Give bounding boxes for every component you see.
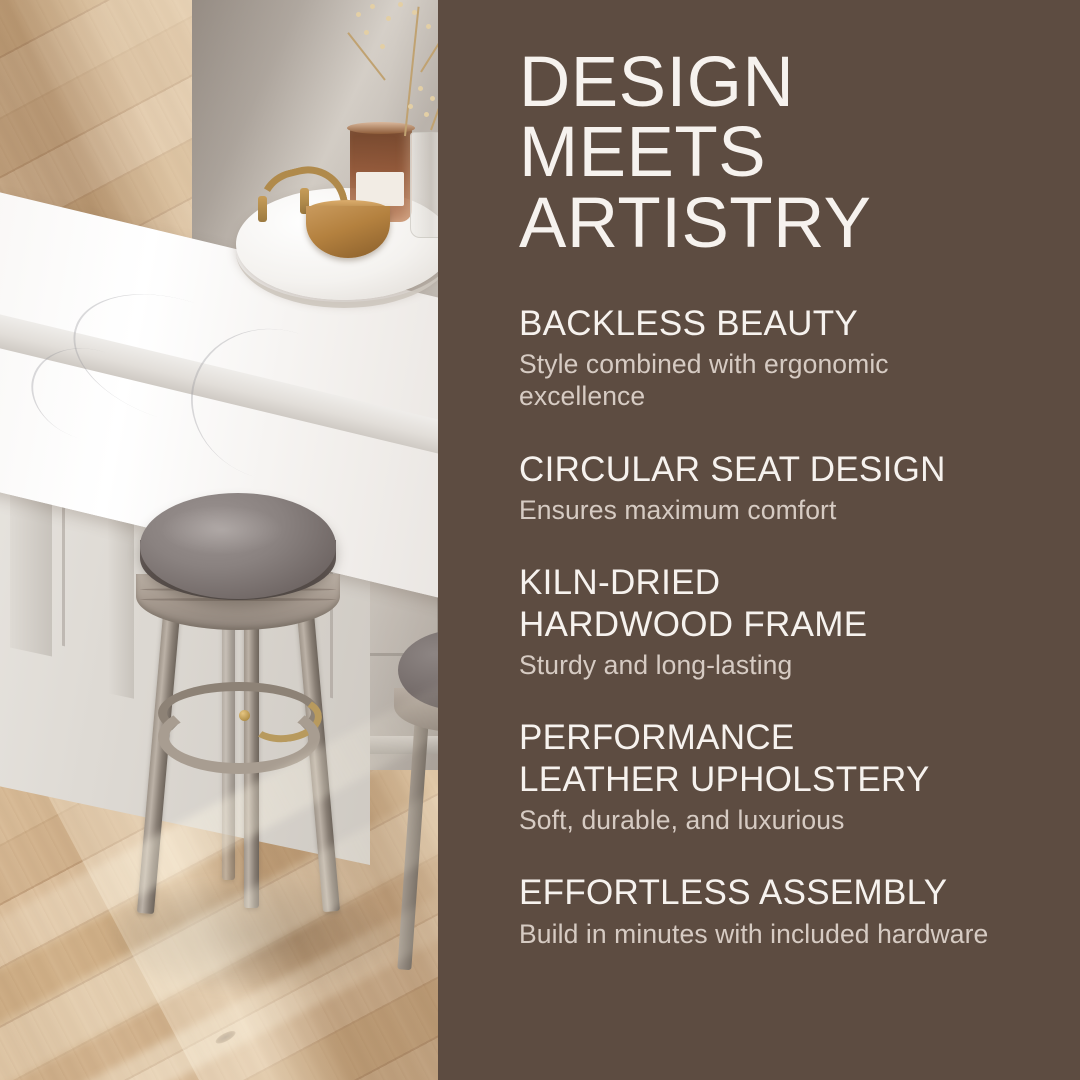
- feature-item-backless-beauty: BACKLESS BEAUTY Style combined with ergo…: [519, 303, 1040, 413]
- feature-item-effortless-assembly: EFFORTLESS ASSEMBLY Build in minutes wit…: [519, 872, 1040, 950]
- dried-floret: [412, 10, 417, 15]
- feature-title: PERFORMANCE LEATHER UPHOLSTERY: [519, 717, 1040, 800]
- dried-floret: [386, 16, 391, 21]
- feature-description: Style combined with ergonomic excellence: [519, 348, 989, 413]
- seat-highlight: [162, 506, 282, 554]
- dried-floret: [356, 12, 361, 17]
- feature-description: Sturdy and long-lasting: [519, 649, 989, 681]
- dried-floret: [380, 44, 385, 49]
- feature-title: CIRCULAR SEAT DESIGN: [519, 449, 1040, 490]
- dried-floret: [408, 104, 413, 109]
- features-panel: DESIGN MEETS ARTISTRY BACKLESS BEAUTY St…: [438, 0, 1080, 1080]
- feature-description: Build in minutes with included hardware: [519, 918, 989, 950]
- page-title: DESIGN MEETS ARTISTRY: [519, 42, 1040, 259]
- feature-description: Ensures maximum comfort: [519, 494, 989, 526]
- feature-title: KILN-DRIED HARDWOOD FRAME: [519, 562, 1040, 645]
- feature-title: BACKLESS BEAUTY: [519, 303, 1040, 344]
- dried-floret: [418, 86, 423, 91]
- dried-floret: [424, 112, 429, 117]
- feature-title: EFFORTLESS ASSEMBLY: [519, 872, 1040, 913]
- dried-floret: [430, 96, 435, 101]
- feature-item-performance-leather-upholstery: PERFORMANCE LEATHER UPHOLSTERY Soft, dur…: [519, 717, 1040, 836]
- dried-floret: [426, 24, 431, 29]
- dried-floret: [370, 4, 375, 9]
- feature-list: BACKLESS BEAUTY Style combined with ergo…: [519, 303, 1040, 950]
- faucet-handle: [258, 196, 267, 222]
- stool-stretcher-front: [158, 700, 320, 774]
- feature-description: Soft, durable, and luxurious: [519, 804, 989, 836]
- product-photo: [0, 0, 438, 1080]
- dried-floret: [364, 30, 369, 35]
- feature-item-kiln-dried-hardwood-frame: KILN-DRIED HARDWOOD FRAME Sturdy and lon…: [519, 562, 1040, 681]
- promo-graphic: DESIGN MEETS ARTISTRY BACKLESS BEAUTY St…: [0, 0, 1080, 1080]
- brass-stud: [239, 710, 250, 721]
- feature-item-circular-seat-design: CIRCULAR SEAT DESIGN Ensures maximum com…: [519, 449, 1040, 527]
- dried-floret: [398, 2, 403, 7]
- glass-vase: [410, 132, 438, 238]
